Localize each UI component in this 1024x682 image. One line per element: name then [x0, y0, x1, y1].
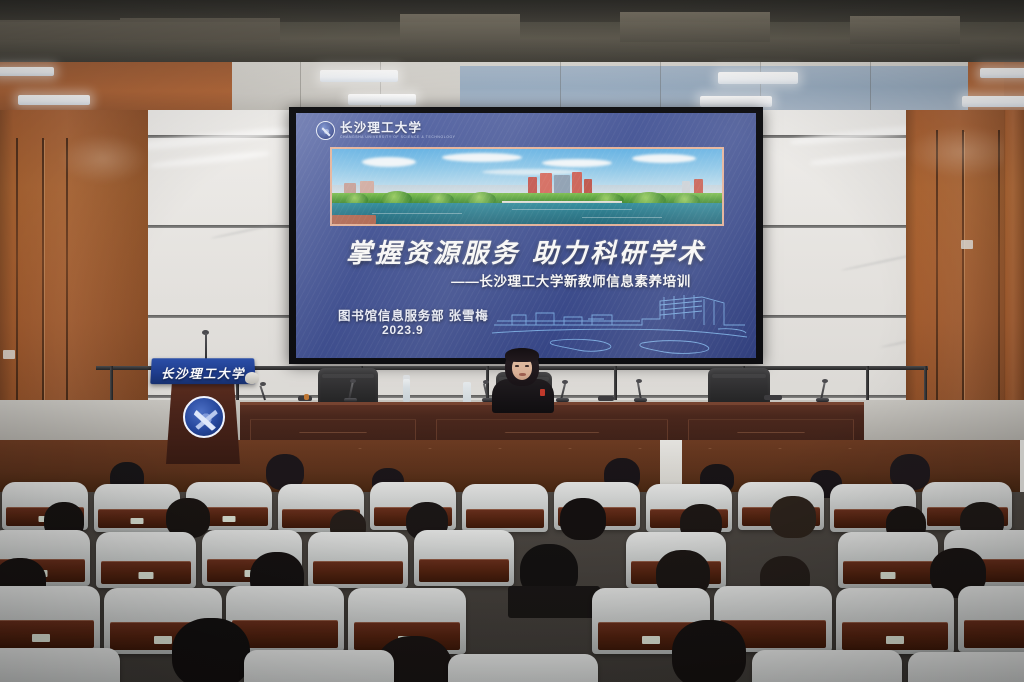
speaker-eye — [515, 365, 519, 367]
railing-post — [924, 366, 927, 402]
railing-post — [110, 366, 113, 402]
audience-head — [770, 496, 816, 538]
seat-number-plate — [642, 636, 660, 644]
ceiling-light-icon — [700, 96, 772, 107]
seat-number-plate — [886, 636, 904, 644]
ceiling — [0, 0, 1024, 62]
chair-back-panel — [313, 561, 403, 584]
seat-number-plate — [32, 634, 50, 642]
chair[interactable] — [838, 532, 938, 588]
ceiling-slab — [120, 18, 280, 40]
chair[interactable] — [448, 654, 598, 682]
podium-microphone-stem — [205, 333, 207, 361]
chair[interactable] — [462, 484, 548, 532]
chair-back-panel — [466, 509, 543, 528]
chair[interactable] — [96, 532, 196, 588]
water-bottle-icon — [403, 379, 410, 403]
slide-date: 2023.9 — [382, 323, 424, 337]
university-emblem-icon — [183, 396, 225, 438]
ceiling-light-icon — [980, 68, 1024, 78]
chair-back-panel — [419, 559, 509, 582]
audience-head — [172, 618, 250, 682]
microphone-head-icon — [483, 380, 489, 384]
podium-lamp — [245, 372, 259, 384]
seat-number-plate — [139, 572, 154, 579]
chair[interactable] — [908, 652, 1024, 682]
ceiling-light-icon — [18, 95, 90, 105]
microphone-head-icon — [822, 379, 828, 383]
ceiling-light-icon — [348, 94, 416, 105]
audience-shoulders — [508, 586, 600, 618]
campus-photo — [330, 147, 724, 226]
ceiling-light-icon — [718, 72, 798, 84]
audience-head — [560, 498, 606, 540]
chair[interactable] — [0, 648, 120, 682]
microphone-head-icon — [350, 379, 356, 383]
microphone-head-icon — [636, 379, 642, 383]
seat-number-plate — [154, 636, 172, 644]
speaker-eye — [525, 365, 529, 367]
chair[interactable] — [308, 532, 408, 588]
ceiling-notch — [850, 16, 960, 44]
microphone-head-icon — [260, 382, 266, 386]
seat-number-plate — [223, 516, 236, 522]
audience-seating — [0, 440, 1024, 682]
speaker-hair — [505, 348, 539, 362]
chair[interactable] — [244, 650, 394, 682]
audience-head — [672, 620, 746, 682]
chair[interactable] — [958, 586, 1024, 652]
microphone-head-icon — [562, 380, 568, 384]
ceiling-slab — [0, 20, 120, 40]
railing-post — [866, 366, 869, 402]
logo-english-name: CHANGSHA UNIVERSITY OF SCIENCE & TECHNOL… — [340, 136, 456, 139]
logo-chinese-name: 长沙理工大学 — [340, 122, 456, 135]
desk-object — [598, 396, 614, 401]
water-bottle-icon — [463, 382, 471, 404]
speaker-mouth — [519, 373, 526, 376]
slide-title: 掌握资源服务 助力科研学术 — [296, 233, 756, 270]
ceiling-notch — [400, 14, 520, 48]
chair[interactable] — [0, 586, 100, 652]
university-emblem-icon — [316, 121, 335, 140]
chair[interactable] — [414, 530, 514, 586]
seat-number-plate — [131, 518, 144, 524]
podium-nameplate-text: 长沙理工大学 — [150, 363, 255, 382]
railing-post — [614, 366, 617, 402]
ceiling-light-icon — [0, 67, 54, 76]
speaker-badge — [540, 389, 545, 396]
ceiling-light-icon — [962, 96, 1024, 107]
chair-back-panel — [964, 620, 1024, 648]
slide-presenter: 图书馆信息服务部 张雪梅 — [338, 305, 489, 324]
desk-object — [304, 394, 309, 400]
ceiling-notch — [620, 12, 770, 42]
seat-number-plate — [881, 572, 896, 579]
podium-nameplate: 长沙理工大学 — [150, 358, 256, 384]
lecture-hall-photo: 长沙理工大学 CHANGSHA UNIVERSITY OF SCIENCE & … — [0, 0, 1024, 682]
presentation-slide: 长沙理工大学 CHANGSHA UNIVERSITY OF SCIENCE & … — [296, 113, 756, 358]
desk-object — [764, 395, 782, 400]
university-logo: 长沙理工大学 CHANGSHA UNIVERSITY OF SCIENCE & … — [316, 121, 456, 140]
chair[interactable] — [836, 588, 954, 654]
campus-lineart-icon — [492, 285, 747, 357]
chair[interactable] — [752, 650, 902, 682]
ceiling-light-icon — [320, 70, 398, 82]
